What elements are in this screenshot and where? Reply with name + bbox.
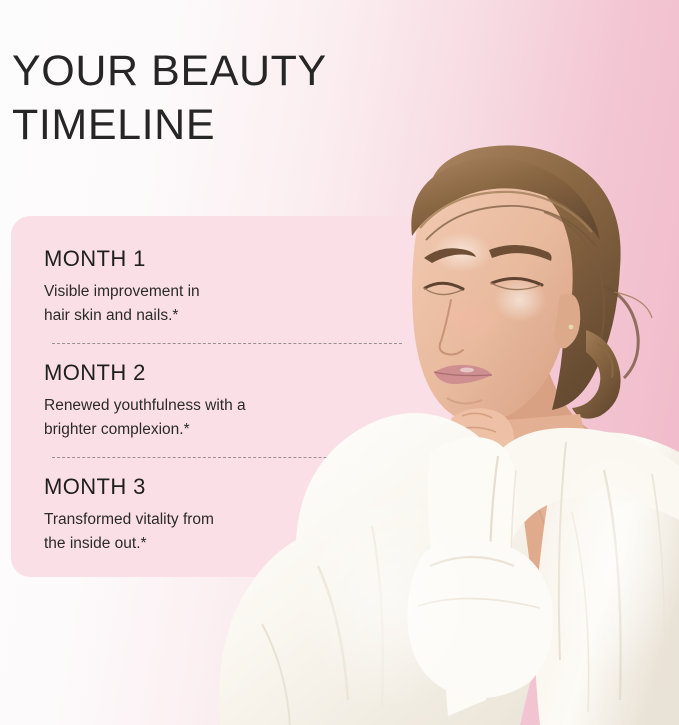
beauty-timeline-poster: MONTH 1 Visible improvement in hair skin… xyxy=(0,0,679,725)
hair-wisp xyxy=(614,292,652,318)
robe-fold-5 xyxy=(652,474,665,716)
month-2-label: MONTH 2 xyxy=(44,358,421,388)
timeline-card: MONTH 1 Visible improvement in hair skin… xyxy=(11,216,451,577)
lip-highlight xyxy=(460,368,474,373)
collar-seam-2 xyxy=(511,470,516,660)
robe-fold-6 xyxy=(572,512,589,712)
hair-curl-1 xyxy=(572,330,621,419)
month-2-description: Renewed youthfulness with a brighter com… xyxy=(44,394,279,442)
hair-strand-2 xyxy=(426,206,596,246)
cuff-fold-2 xyxy=(418,598,540,608)
finger-line-2 xyxy=(458,427,496,432)
eyebrow-right xyxy=(489,245,552,261)
ear-shape xyxy=(554,293,580,348)
hair-curl-3 xyxy=(598,344,613,378)
timeline-item-month-1: MONTH 1 Visible improvement in hair skin… xyxy=(44,244,421,328)
finger-line-1 xyxy=(462,413,492,418)
page-title: Your Beauty Timeline xyxy=(12,44,442,152)
hair-curl-2 xyxy=(604,286,638,378)
eye-right-closed xyxy=(492,278,542,285)
timeline-item-month-3: MONTH 3 Transformed vitality from the in… xyxy=(44,472,421,556)
month-3-description: Transformed vitality from the inside out… xyxy=(44,508,279,556)
finger-line-3 xyxy=(458,443,500,448)
robe-fold-1 xyxy=(318,566,348,700)
hair-strand-3 xyxy=(544,212,604,356)
collar-seam-3 xyxy=(559,442,566,660)
hair-back xyxy=(430,145,621,410)
hand-shape xyxy=(450,408,514,463)
robe-highlight-2 xyxy=(542,440,679,680)
forearm-shading xyxy=(516,440,556,556)
eye-right-lid xyxy=(491,283,541,290)
neck-shape xyxy=(455,360,600,545)
month-1-label: MONTH 1 xyxy=(44,244,421,274)
timeline-divider-2 xyxy=(52,457,402,458)
forearm-shape xyxy=(506,414,640,612)
earring-icon xyxy=(569,325,574,330)
robe-right-shoulder xyxy=(535,432,679,725)
robe-fold-4 xyxy=(604,470,621,700)
robe-fold-3 xyxy=(262,624,290,725)
month-3-label: MONTH 3 xyxy=(44,472,421,502)
chin-shadow xyxy=(447,398,482,404)
timeline-divider-1 xyxy=(52,343,402,344)
robe-collar-right xyxy=(479,428,679,620)
chest-shape xyxy=(495,470,679,610)
cheekbone-glow xyxy=(494,278,546,322)
collar-seam-1 xyxy=(490,456,498,640)
timeline-item-month-2: MONTH 2 Renewed youthfulness with a brig… xyxy=(44,358,421,442)
month-1-description: Visible improvement in hair skin and nai… xyxy=(44,280,279,328)
